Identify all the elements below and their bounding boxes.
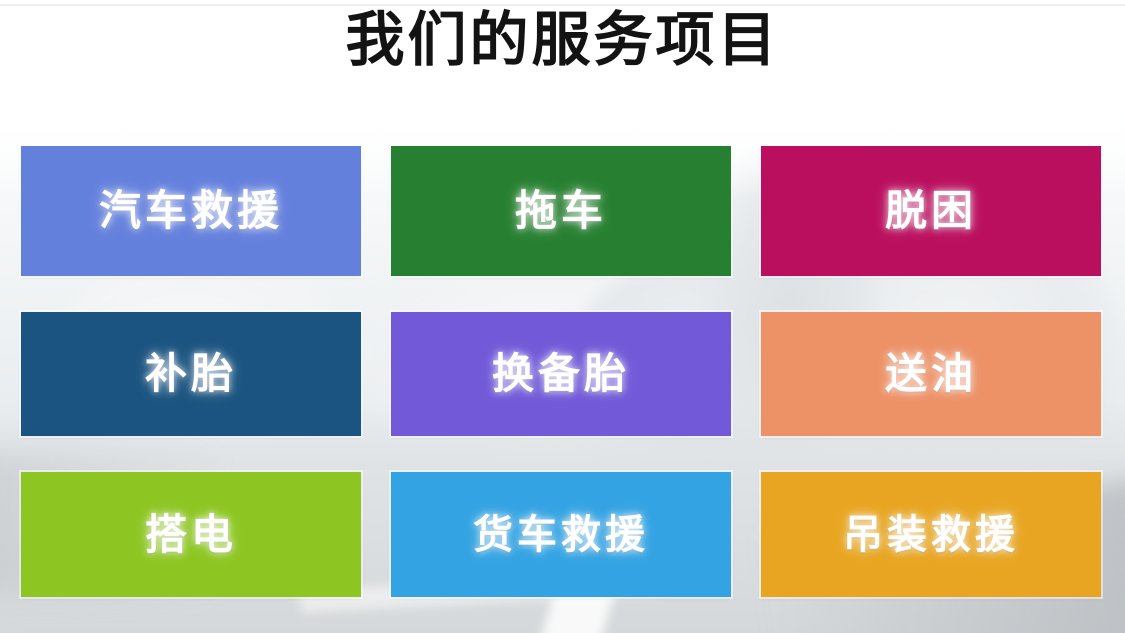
service-tile-grid: 汽车救援 拖车 脱困 补胎 换备胎 送油 搭电 货车救援 吊装救援 xyxy=(21,146,1102,597)
top-divider-line xyxy=(0,4,1125,6)
slide-header: 我们的服务项目 xyxy=(0,0,1125,112)
service-tile-car-rescue[interactable]: 汽车救援 xyxy=(21,146,361,276)
service-tile-label: 货车救援 xyxy=(473,515,649,555)
service-tile-fuel-delivery[interactable]: 送油 xyxy=(761,312,1101,436)
service-tile-crane-rescue[interactable]: 吊装救援 xyxy=(761,472,1101,597)
service-tile-label: 送油 xyxy=(885,353,977,395)
service-tile-tow-truck[interactable]: 拖车 xyxy=(391,146,731,276)
service-tile-truck-rescue[interactable]: 货车救援 xyxy=(391,472,731,597)
service-items-slide: 我们的服务项目 汽车救援 拖车 脱困 补胎 换备胎 送油 搭电 货车救援 吊装救… xyxy=(0,0,1125,633)
service-tile-label: 换备胎 xyxy=(492,353,630,395)
service-tile-jump-start[interactable]: 搭电 xyxy=(21,472,361,597)
service-tile-spare-tire-change[interactable]: 换备胎 xyxy=(391,312,731,436)
service-tile-label: 补胎 xyxy=(145,353,237,395)
service-tile-label: 吊装救援 xyxy=(843,515,1019,555)
service-tile-tire-repair[interactable]: 补胎 xyxy=(21,312,361,436)
service-tile-extrication[interactable]: 脱困 xyxy=(761,146,1101,276)
service-tile-label: 拖车 xyxy=(515,190,607,232)
service-tile-label: 搭电 xyxy=(145,514,237,556)
page-title: 我们的服务项目 xyxy=(345,11,779,70)
service-tile-label: 汽车救援 xyxy=(99,190,283,232)
service-tile-label: 脱困 xyxy=(885,190,977,232)
